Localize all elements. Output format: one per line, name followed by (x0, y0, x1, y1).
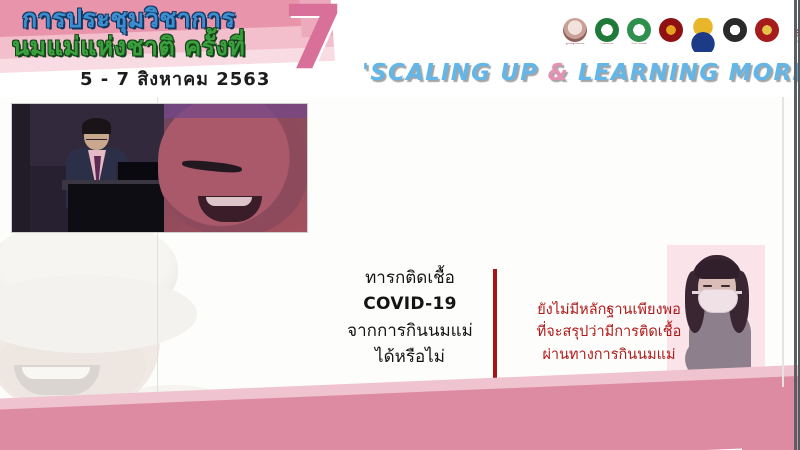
moph-disc (595, 18, 619, 42)
answer-line-2: ที่จะสรุปว่ามีการติดเชื้อ (500, 321, 718, 343)
moph-caption: กรมอนามัย (593, 43, 622, 46)
illustration-mother-eye-right (721, 285, 730, 287)
mahidol-emblem-logo-icon (722, 18, 748, 52)
question-text-block: ทารกติดเชื้อ COVID-19 จากการกินนมแม่ ได้… (330, 265, 490, 370)
tagline-part1: 'SCALING UP (362, 60, 548, 86)
question-line-4: ได้หรือไม่ (330, 344, 490, 370)
watermark-baby-teeth (22, 367, 90, 379)
royal-thai-emblem-logo-icon: มูลนิธิศูนย์นมแม่ (562, 18, 588, 52)
conference-title-line2: นมแม่แห่งชาติ ครั้งที่ (12, 34, 245, 59)
doh-disc (627, 18, 651, 42)
slide-inner-right-edge (782, 97, 784, 387)
conference-date: 5 - 7 สิงหาคม 2563 (80, 64, 270, 93)
video-baby-teeth (206, 197, 252, 206)
question-line-3: จากการกินนมแม่ (330, 318, 490, 344)
ministry-of-public-health-logo-icon: กรมอนามัย (594, 18, 620, 52)
video-wall-panel (12, 104, 30, 232)
tagline-part2: LEARNING MORE' (569, 60, 800, 86)
chulalongkorn-emblem-logo-icon (754, 18, 780, 52)
answer-text-block: ยังไม่มีหลักฐานเพียงพอ ที่จะสรุปว่ามีการ… (500, 299, 718, 366)
conference-title-line1: การประชุมวิชาการ (22, 6, 235, 31)
answer-line-1: ยังไม่มีหลักฐานเพียงพอ (500, 299, 718, 321)
answer-line-3: ผ่านทางการกินนมแม่ (500, 344, 718, 366)
conference-speaker-video[interactable] (11, 103, 308, 233)
conference-edition-number: 7 (283, 0, 344, 82)
video-baby-backdrop (164, 104, 307, 232)
video-backdrop-top-strip (164, 104, 307, 118)
chulalongkorn-emblem-disc (755, 18, 779, 42)
doh-caption: กรมการแพทย์ (625, 43, 654, 46)
question-line-2: COVID-19 (330, 291, 490, 317)
tagline-ampersand: & (548, 60, 569, 86)
department-of-health-logo-icon: กรมการแพทย์ (626, 18, 652, 52)
conference-tagline: 'SCALING UP & LEARNING MORE' (362, 60, 800, 86)
slide-header-banner: การประชุมวิชาการ นมแม่แห่งชาติ ครั้งที่ … (0, 0, 800, 97)
illustration-mother-eye-left (703, 285, 712, 287)
presentation-slide: การประชุมวิชาการ นมแม่แห่งชาติ ครั้งที่ … (0, 0, 800, 450)
video-podium (68, 184, 164, 232)
illustration-mother-bangs (695, 259, 739, 279)
mahidol-emblem-disc (723, 18, 747, 42)
thaihealth-sss-logo-icon: สสส ThaiHealth (786, 18, 800, 52)
video-speaker-glasses-icon (86, 132, 107, 140)
royal-thai-emblem-caption: มูลนิธิศูนย์นมแม่ (561, 43, 590, 46)
video-stage-region (12, 104, 164, 232)
royal-crown-emblem-logo-icon (690, 18, 716, 52)
slide-outer-right-border (794, 0, 797, 450)
university-emblem-logo-icon (658, 18, 684, 52)
sponsor-logo-strip: มูลนิธิศูนย์นมแม่ กรมอนามัย กรมการแพทย์ (562, 18, 800, 52)
royal-thai-emblem-disc (563, 18, 587, 42)
question-line-1: ทารกติดเชื้อ (330, 265, 490, 291)
watermark-baby-hat-brim (0, 275, 197, 353)
university-emblem-disc (659, 18, 683, 42)
